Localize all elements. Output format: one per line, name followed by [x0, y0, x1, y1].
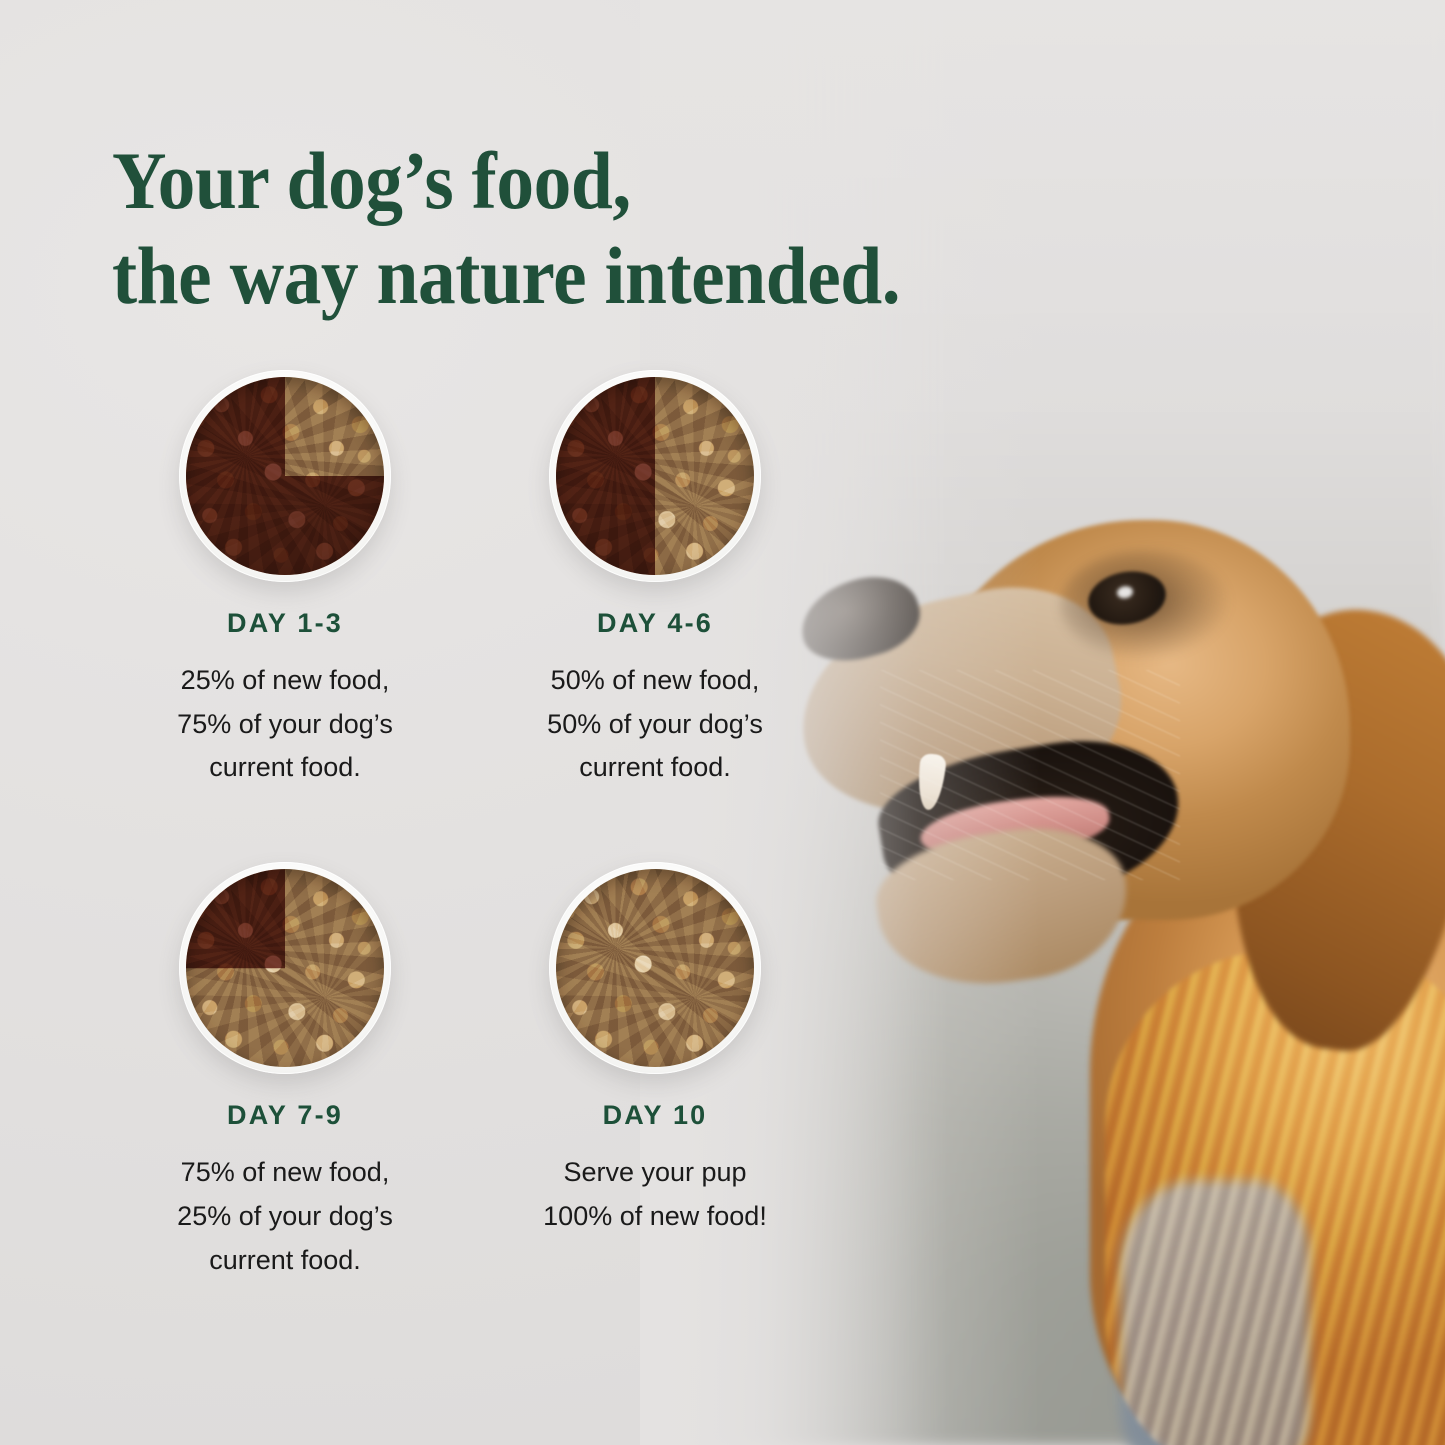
- step-description: 25% of new food, 75% of your dog’s curre…: [177, 659, 393, 790]
- page-title: Your dog’s food, the way nature intended…: [112, 133, 1014, 323]
- dog-eye: [1084, 566, 1170, 631]
- bowl-dish: [549, 370, 761, 582]
- dog-ear: [1204, 597, 1445, 1063]
- step-day-4-6: DAY 4-6 50% of new food, 50% of your dog…: [470, 370, 840, 790]
- food-bowl-day-4-6: [549, 370, 761, 582]
- steps-row-top: DAY 1-3 25% of new food, 75% of your dog…: [100, 370, 840, 790]
- food-bowl-day-1-3: [179, 370, 391, 582]
- dog-jaw: [869, 815, 1137, 998]
- food-bowl-day-7-9: [179, 862, 391, 1074]
- dog-head: [920, 520, 1350, 920]
- bowl-dish: [179, 370, 391, 582]
- steps-row-bottom: DAY 7-9 75% of new food, 25% of your dog…: [100, 862, 840, 1282]
- step-title: DAY 1-3: [227, 608, 343, 639]
- dog-whiskers: [880, 670, 1180, 880]
- transition-steps: DAY 1-3 25% of new food, 75% of your dog…: [100, 370, 840, 1282]
- food-bowl-day-10: [549, 862, 761, 1074]
- step-title: DAY 10: [603, 1100, 708, 1131]
- kibble-new-food: [556, 869, 754, 1067]
- dog-mouth: [870, 725, 1190, 920]
- transition-guide-poster: Your dog’s food, the way nature intended…: [0, 0, 1445, 1445]
- bowl-dish: [549, 862, 761, 1074]
- dog-collar: [1120, 1180, 1310, 1445]
- step-title: DAY 4-6: [597, 608, 713, 639]
- dog-tooth: [915, 753, 947, 811]
- step-day-10: DAY 10 Serve your pup 100% of new food!: [470, 862, 840, 1282]
- dog-tongue: [917, 789, 1112, 868]
- step-description: Serve your pup 100% of new food!: [543, 1151, 767, 1238]
- step-day-1-3: DAY 1-3 25% of new food, 75% of your dog…: [100, 370, 470, 790]
- step-description: 75% of new food, 25% of your dog’s curre…: [177, 1151, 393, 1282]
- step-description: 50% of new food, 50% of your dog’s curre…: [547, 659, 763, 790]
- dog-fur: [1105, 950, 1445, 1445]
- dog-eye-shading: [1060, 550, 1230, 660]
- dog-body: [1090, 810, 1445, 1445]
- step-title: DAY 7-9: [227, 1100, 343, 1131]
- dog-illustration: [760, 480, 1445, 1445]
- step-day-7-9: DAY 7-9 75% of new food, 25% of your dog…: [100, 862, 470, 1282]
- bowl-dish: [179, 862, 391, 1074]
